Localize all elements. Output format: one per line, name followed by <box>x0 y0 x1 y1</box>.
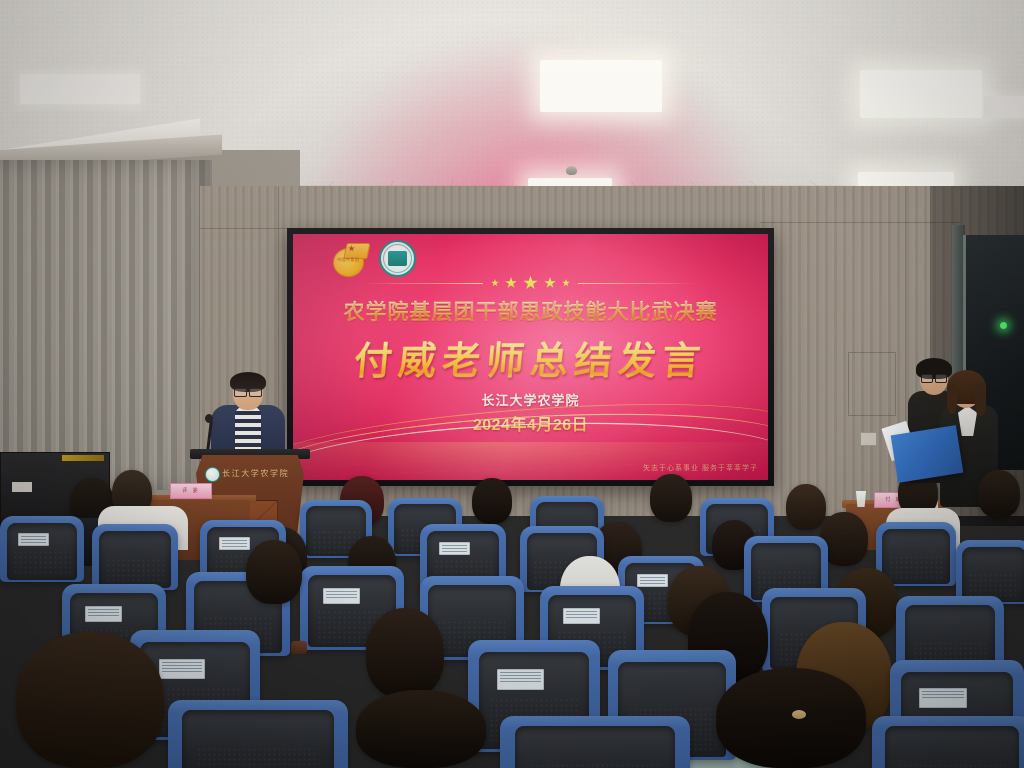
podium-label: 长江大学农学院 <box>222 468 294 479</box>
seat-number-tag <box>18 533 49 546</box>
auditorium-seat[interactable] <box>0 516 84 582</box>
seat-number-tag <box>439 542 470 556</box>
auditorium-seat[interactable] <box>168 700 348 768</box>
seat-number-tag <box>497 669 544 690</box>
ceiling-light-panel <box>20 74 140 104</box>
person-head <box>978 470 1020 518</box>
glasses-icon <box>234 388 262 395</box>
seat-number-tag <box>637 574 668 588</box>
yangtze-university-seal-icon <box>379 240 416 277</box>
auditorium-seat[interactable] <box>956 540 1024 604</box>
auditorium-seat[interactable] <box>500 716 690 768</box>
seat-number-tag <box>85 606 122 622</box>
screen-headline: 付威老师总结发言 <box>293 330 768 385</box>
judge-name-placard: 评 委 <box>170 483 212 499</box>
standing-woman-hair-strand <box>975 384 986 416</box>
star-icon <box>562 279 570 287</box>
seat-number-tag <box>323 588 360 604</box>
person-head <box>246 540 302 604</box>
ceiling-light-panel <box>860 70 982 118</box>
stage-led-screen-bezel: 中国共青团 农学院基层团干部思政技能大比武决赛 付 <box>287 228 774 486</box>
screen-event-title: 农学院基层团干部思政技能大比武决赛 <box>293 296 768 326</box>
communist-youth-league-emblem-icon: 中国共青团 <box>333 243 367 275</box>
microphone-head-icon <box>205 414 213 423</box>
cabinet-sticker <box>12 482 32 492</box>
ceiling-light-panel <box>984 96 1024 118</box>
star-icon <box>491 279 499 287</box>
person-head <box>16 632 164 768</box>
star-icon <box>505 277 517 289</box>
seat-number-tag <box>919 688 967 708</box>
standing-woman-hair-strand <box>947 384 957 414</box>
glasses-icon <box>921 374 947 381</box>
wall-access-panel <box>848 352 896 416</box>
seat-number-tag <box>563 608 600 624</box>
person-head <box>356 690 486 768</box>
auditorium-seat[interactable] <box>92 524 178 590</box>
auditorium-photo-scene: 中国共青团 农学院基层团干部思政技能大比武决赛 付 <box>0 0 1024 768</box>
star-divider <box>293 275 768 291</box>
green-indicator-led-icon <box>1000 322 1007 329</box>
yangtze-university-seal-icon <box>205 467 220 482</box>
person-head <box>366 608 444 698</box>
power-outlet-icon <box>860 432 877 446</box>
person-head <box>650 474 692 522</box>
screen-logo-row: 中国共青团 <box>333 240 416 277</box>
person-head <box>786 484 826 530</box>
star-icon <box>544 277 556 289</box>
seat-number-tag <box>219 537 250 550</box>
cabinet-label-strip <box>62 455 104 461</box>
seat-number-tag <box>159 659 205 680</box>
star-icon <box>523 276 538 291</box>
star-group <box>483 276 578 291</box>
hair-tie-icon <box>792 710 806 719</box>
person-head <box>472 478 512 524</box>
screen-slogan: 矢志于心系事业 服务于莘莘学子 <box>643 463 758 473</box>
person-head <box>716 668 866 768</box>
smoke-detector-icon <box>566 166 577 175</box>
auditorium-seat[interactable] <box>872 716 1024 768</box>
ceiling-light-panel <box>540 60 662 112</box>
blue-folder <box>891 425 964 483</box>
window-curtain <box>0 160 212 490</box>
cyl-emblem-label: 中国共青团 <box>336 257 360 263</box>
stage-led-screen: 中国共青团 农学院基层团干部思政技能大比武决赛 付 <box>293 234 768 480</box>
